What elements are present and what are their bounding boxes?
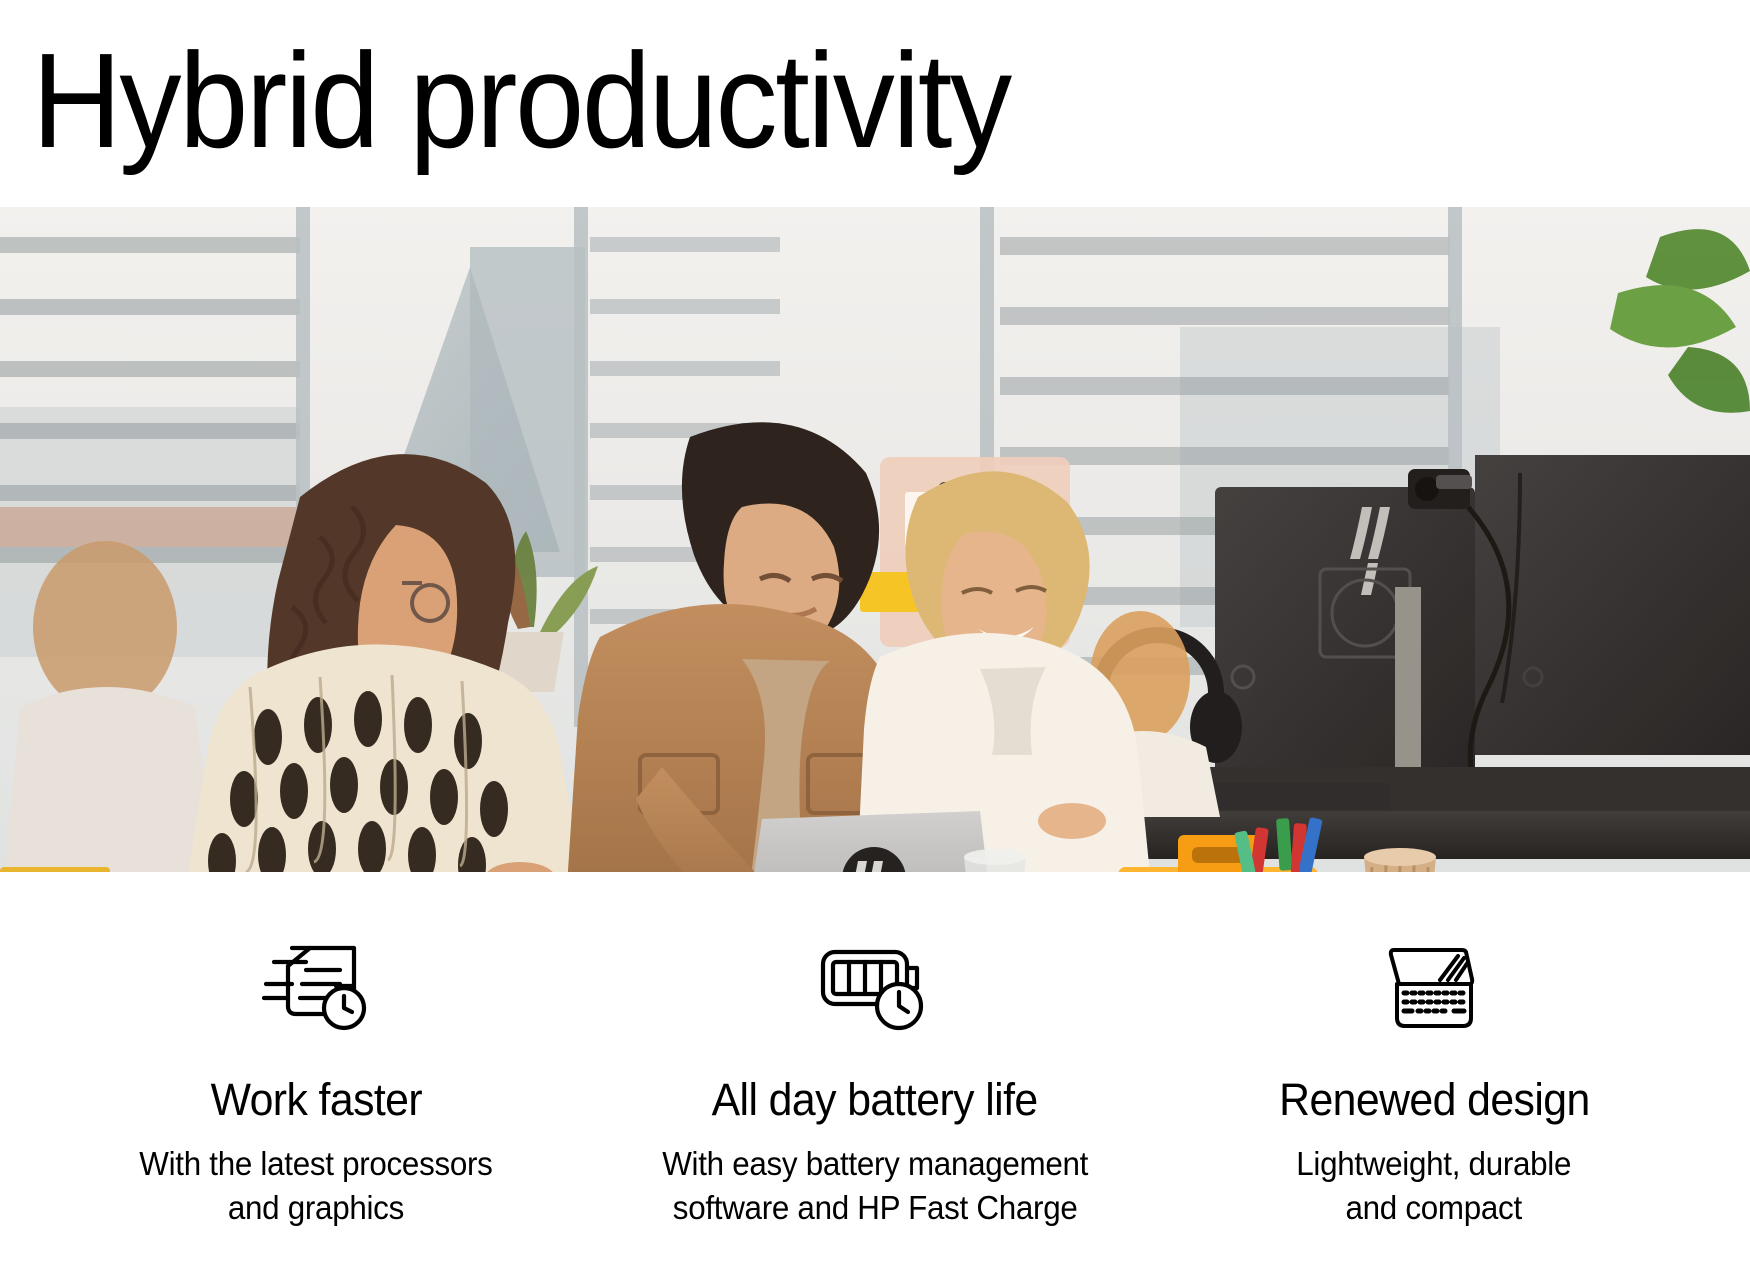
- feature-title: Work faster: [210, 1074, 421, 1126]
- battery-clock-icon: [819, 940, 931, 1032]
- feature-description-line: software and HP Fast Charge: [662, 1186, 1088, 1230]
- marketing-banner: Hybrid productivity: [0, 0, 1750, 1285]
- feature-description-line: With the latest processors: [139, 1142, 492, 1186]
- feature-renewed-design: Renewed design Lightweight, durable and …: [1158, 872, 1710, 1230]
- document-speed-stopwatch-icon: [262, 940, 370, 1032]
- feature-work-faster: Work faster With the latest processors a…: [40, 872, 592, 1230]
- feature-description: With the latest processors and graphics: [139, 1142, 492, 1230]
- feature-battery-life: All day battery life With easy battery m…: [599, 872, 1151, 1230]
- feature-description-line: With easy battery management: [662, 1142, 1088, 1186]
- hero-image: [0, 207, 1750, 872]
- feature-description: With easy battery management software an…: [662, 1142, 1088, 1230]
- feature-description-line: Lightweight, durable: [1297, 1142, 1572, 1186]
- feature-list: Work faster With the latest processors a…: [0, 872, 1750, 1285]
- feature-description-line: and compact: [1297, 1186, 1572, 1230]
- feature-description: Lightweight, durable and compact: [1297, 1142, 1572, 1230]
- feature-title: Renewed design: [1279, 1074, 1590, 1126]
- page-title: Hybrid productivity: [32, 26, 1587, 186]
- feature-description-line: and graphics: [139, 1186, 492, 1230]
- feature-title: All day battery life: [712, 1074, 1038, 1126]
- laptop-keyboard-icon: [1382, 940, 1486, 1032]
